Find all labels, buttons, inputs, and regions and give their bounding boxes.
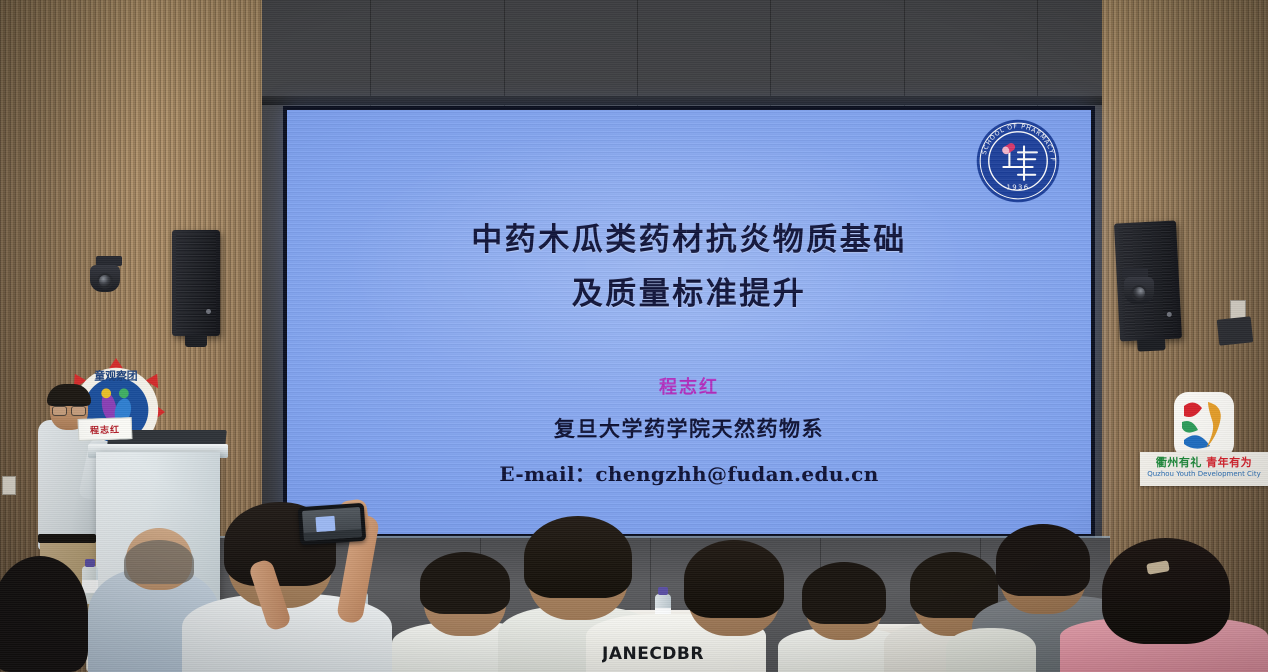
fudan-school-of-pharmacy-emblem-icon: SCHOOL OF PHARMACY FUDAN UNIVERSITY xyxy=(975,118,1061,204)
quzhou-youth-logo-icon xyxy=(1174,392,1234,458)
quzhou-youth-banner-text: 衢州有礼 青年有为 Quzhou Youth Development City xyxy=(1140,452,1268,486)
shirt-text-area: JANECDBR xyxy=(602,644,762,672)
slide-email: E-mail：chengzhh@fudan.edu.cn xyxy=(287,458,1091,487)
banner-cn-part1: 衢州有礼 xyxy=(1156,456,1202,469)
slide-affiliation: 复旦大学药学院天然药物系 xyxy=(287,413,1091,443)
light-switch-plate xyxy=(2,476,16,495)
smartphone xyxy=(298,503,366,546)
slide-title-line-2: 及质量标准提升 xyxy=(287,268,1091,313)
ptz-camera-left-icon xyxy=(88,256,128,298)
podium-nameplate-text: 程志红 xyxy=(90,422,120,436)
slide-title-line-1: 中药木瓜类药材抗炎物质基础 xyxy=(287,214,1091,259)
smartphone-screen xyxy=(302,507,362,541)
banner-cn-part2: 青年有为 xyxy=(1206,456,1252,469)
presentation-slide: 中药木瓜类药材抗炎物质基础 及质量标准提升 程志红 复旦大学药学院天然药物系 E… xyxy=(287,110,1091,534)
presenter-glasses-icon xyxy=(52,404,86,412)
presenter-hair xyxy=(47,384,91,406)
emblem-year: 1936 xyxy=(1006,183,1029,191)
shirt-text: JANECDBR xyxy=(602,644,704,664)
wall-bracket xyxy=(1217,316,1254,345)
presenter-belt xyxy=(38,534,96,543)
projection-screen-frame: 中药木瓜类药材抗炎物质基础 及质量标准提升 程志红 复旦大学药学院天然药物系 E… xyxy=(283,106,1095,538)
panel-ledge xyxy=(262,96,1102,105)
ptz-camera-right-icon xyxy=(1116,268,1156,310)
loudspeaker-left xyxy=(172,230,220,336)
conference-room-photo: 中药木瓜类药材抗炎物质基础 及质量标准提升 程志红 复旦大学药学院天然药物系 E… xyxy=(0,0,1268,672)
projection-screen: 中药木瓜类药材抗炎物质基础 及质量标准提升 程志红 复旦大学药学院天然药物系 E… xyxy=(287,110,1091,534)
slide-presenter-name: 程志红 xyxy=(287,373,1091,399)
podium-nameplate: 程志红 xyxy=(78,417,133,441)
svg-text:童观察团: 童观察团 xyxy=(94,370,137,383)
banner-en: Quzhou Youth Development City xyxy=(1140,470,1268,478)
